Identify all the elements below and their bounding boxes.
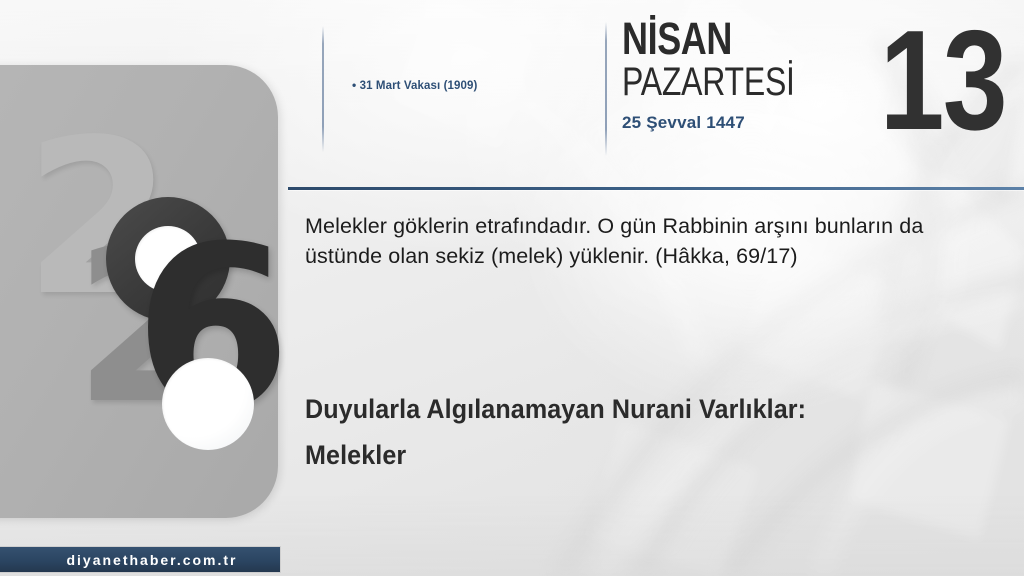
footer-watermark-band: diyanethaber.com.tr (0, 546, 281, 573)
footer-url: diyanethaber.com.tr (42, 552, 237, 568)
events-divider-line (322, 26, 324, 152)
day-number: 13 (880, 10, 1006, 152)
event-label: 31 Mart Vakası (1909) (360, 80, 478, 92)
list-item: • 31 Mart Vakası (1909) (352, 76, 592, 95)
bullet-icon: • (352, 78, 356, 92)
year-logo-2026: 2 2 6 (18, 120, 278, 460)
hijri-date: 25 Şevval 1447 (622, 113, 872, 133)
weekday-label: PAZARTESİ (622, 62, 822, 103)
historical-events-list: • 31 Mart Vakası (1909) (352, 76, 592, 95)
headline-line-1: Duyularla Algılanamayan Nurani Varlıklar… (305, 386, 900, 432)
headline-line-2: Melekler (305, 432, 900, 478)
horizontal-divider (288, 187, 1024, 190)
quote-text: Melekler göklerin etrafındadır. O gün Ra… (305, 212, 925, 271)
logo-six-counter (162, 358, 254, 450)
date-block: NİSAN PAZARTESİ 25 Şevval 1447 (622, 18, 872, 133)
calendar-page: 2 2 6 • 31 Mart Vakası (1909) NİSAN PAZA… (0, 0, 1024, 576)
article-headline: Duyularla Algılanamayan Nurani Varlıklar… (305, 386, 900, 479)
month-label: NİSAN (622, 18, 822, 60)
date-divider-line (605, 22, 607, 156)
